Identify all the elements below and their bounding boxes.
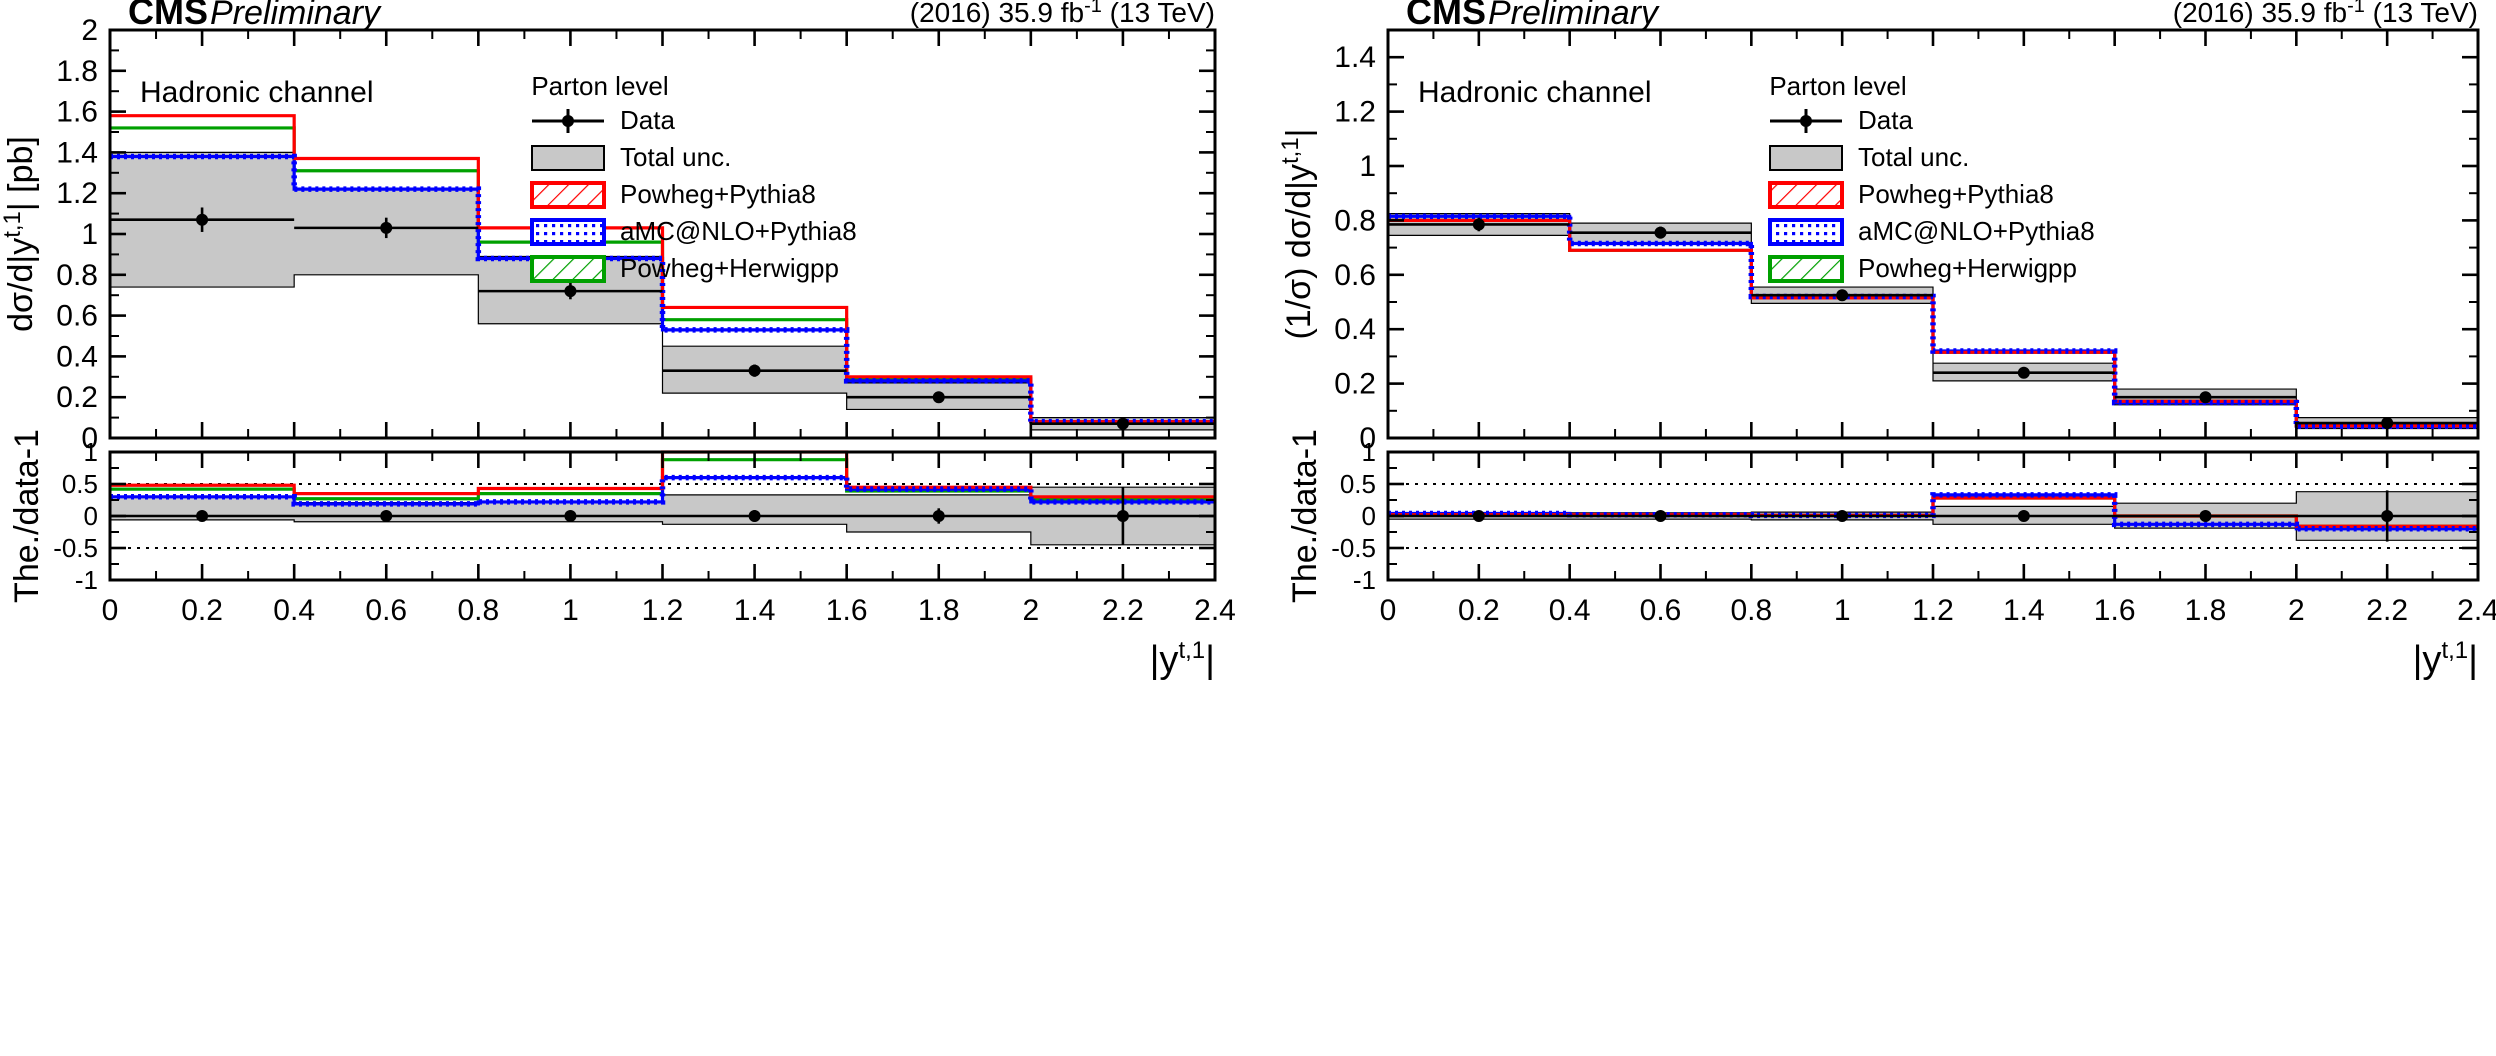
data-marker xyxy=(749,365,761,377)
left-panel-absolute-cross-section: 00.20.40.60.811.21.41.61.82-1-0.500.5100… xyxy=(0,0,1248,1056)
ratio-y-axis-title: The./data-1 xyxy=(1286,429,1324,603)
main-y-tick-label: 0.2 xyxy=(56,381,98,414)
data-marker xyxy=(2200,391,2212,403)
legend-header: Parton level xyxy=(531,71,668,101)
x-tick-label: 1.2 xyxy=(1912,594,1954,627)
main-y-tick-label: 0.8 xyxy=(1334,204,1376,237)
legend-item[interactable]: Total unc. xyxy=(1770,142,1969,172)
cms-label: CMS xyxy=(128,0,208,32)
x-tick-label: 0.6 xyxy=(365,594,407,627)
main-y-tick-label: 1.2 xyxy=(56,177,98,210)
data-marker xyxy=(196,214,208,226)
preliminary-label: Preliminary xyxy=(210,0,382,32)
main-y-axis-title: dσ/d|yt,1| [pb] xyxy=(0,136,40,332)
main-y-tick-label: 0.4 xyxy=(1334,313,1376,346)
x-tick-label: 0.2 xyxy=(181,594,223,627)
x-tick-label: 0.4 xyxy=(273,594,315,627)
ratio-data-marker xyxy=(933,510,945,522)
x-tick-label: 1.6 xyxy=(826,594,868,627)
main-y-tick-label: 0.6 xyxy=(1334,259,1376,292)
x-tick-label: 1.8 xyxy=(2185,594,2227,627)
legend-item[interactable]: Data xyxy=(1770,105,1913,135)
x-tick-label: 1.8 xyxy=(918,594,960,627)
ratio-y-tick-label: 1 xyxy=(1362,437,1376,467)
x-tick-labels: 00.20.40.60.811.21.41.61.822.22.4 xyxy=(1380,594,2496,627)
legend-label: Powheg+Pythia8 xyxy=(1858,179,2054,209)
legend-label: Powheg+Herwigpp xyxy=(620,253,839,283)
legend-item[interactable]: Data xyxy=(532,105,675,135)
ratio-plot-pad xyxy=(1388,484,2478,548)
legend-item[interactable]: Powheg+Pythia8 xyxy=(1770,179,2054,209)
ratio-y-tick-label: 0.5 xyxy=(1340,469,1376,499)
data-marker xyxy=(1836,289,1848,301)
x-tick-label: 0.8 xyxy=(1730,594,1772,627)
legend-label: Data xyxy=(1858,105,1913,135)
x-tick-label: 1.6 xyxy=(2094,594,2136,627)
ratio-data-marker xyxy=(1117,510,1129,522)
x-tick-label: 0 xyxy=(102,594,119,627)
legend-swatch-hatched xyxy=(1770,183,1842,207)
legend-swatch-hatched xyxy=(1770,257,1842,281)
legend-label: Powheg+Herwigpp xyxy=(1858,253,2077,283)
ratio-y-tick-label: -1 xyxy=(75,565,98,595)
ratio-data-marker xyxy=(2200,510,2212,522)
ratio-data-marker xyxy=(196,510,208,522)
legend[interactable]: Parton levelDataTotal unc.Powheg+Pythia8… xyxy=(531,71,856,283)
main-y-tick-label: 1.4 xyxy=(56,136,98,169)
main-y-tick-label: 0.8 xyxy=(56,259,98,292)
legend-swatch-dotted xyxy=(1770,220,1842,244)
data-marker xyxy=(564,285,576,297)
data-marker xyxy=(1655,227,1667,239)
x-tick-label: 2 xyxy=(2288,594,2305,627)
ratio-y-tick-label: 1 xyxy=(84,437,98,467)
main-y-tick-label: 2 xyxy=(81,14,98,47)
data-marker xyxy=(933,391,945,403)
legend-swatch-hatched xyxy=(532,183,604,207)
main-y-tick-label: 1.2 xyxy=(1334,96,1376,129)
legend-item[interactable]: Total unc. xyxy=(532,142,731,172)
ratio-data-marker xyxy=(2381,510,2393,522)
main-y-tick-label: 1.8 xyxy=(56,55,98,88)
ratio-data-marker xyxy=(1473,510,1485,522)
main-y-tick-label: 1 xyxy=(81,218,98,251)
ratio-data-marker xyxy=(2018,510,2030,522)
legend-item[interactable]: Powheg+Herwigpp xyxy=(532,253,839,283)
legend-data-marker xyxy=(562,115,574,127)
main-y-tick-label: 0.2 xyxy=(1334,368,1376,401)
x-tick-label: 1.2 xyxy=(642,594,684,627)
luminosity-label: (2016) 35.9 fb-1 (13 TeV) xyxy=(2173,0,2478,28)
x-tick-label: 1 xyxy=(1834,594,1851,627)
ratio-y-tick-label: 0 xyxy=(1362,501,1376,531)
main-y-tick-label: 0.6 xyxy=(56,300,98,333)
main-y-tick-label: 0.4 xyxy=(56,340,98,373)
data-marker xyxy=(380,222,392,234)
cms-label: CMS xyxy=(1406,0,1486,32)
x-tick-label: 2.2 xyxy=(2366,594,2408,627)
preliminary-label: Preliminary xyxy=(1488,0,1660,32)
ratio-y-tick-label: 0 xyxy=(84,501,98,531)
channel-label: Hadronic channel xyxy=(1418,76,1651,109)
ratio-data-marker xyxy=(564,510,576,522)
legend-item[interactable]: Powheg+Herwigpp xyxy=(1770,253,2077,283)
ratio-y-tick-label: -0.5 xyxy=(1331,533,1376,563)
x-tick-labels: 00.20.40.60.811.21.41.61.822.22.4 xyxy=(102,594,1236,627)
x-tick-label: 2.4 xyxy=(2457,594,2496,627)
ratio-y-tick-label: -1 xyxy=(1353,565,1376,595)
ratio-y-tick-label: 0.5 xyxy=(62,469,98,499)
x-tick-label: 0 xyxy=(1380,594,1397,627)
y-axis-title: dσ/d|yt,1| [pb]The./data-1 xyxy=(0,136,46,603)
main-y-axis-title: (1/σ) dσ/d|yt,1| xyxy=(1277,128,1318,339)
x-tick-label: 0.6 xyxy=(1640,594,1682,627)
ratio-data-marker xyxy=(1655,510,1667,522)
ratio-y-axis-title: The./data-1 xyxy=(8,429,46,603)
x-tick-label: 1 xyxy=(562,594,579,627)
figure-root: 00.20.40.60.811.21.41.61.82-1-0.500.5100… xyxy=(0,0,2496,1056)
x-axis-title: |yt,1| xyxy=(1150,637,1215,681)
legend-header: Parton level xyxy=(1769,71,1906,101)
ratio-y-tick-label: -0.5 xyxy=(53,533,98,563)
ratio-data-marker xyxy=(380,510,392,522)
main-y-tick-label: 1.4 xyxy=(1334,41,1376,74)
legend-label: aMC@NLO+Pythia8 xyxy=(620,216,857,246)
legend-label: Data xyxy=(620,105,675,135)
channel-label: Hadronic channel xyxy=(140,76,373,109)
legend-swatch-hatched xyxy=(532,257,604,281)
x-tick-label: 0.2 xyxy=(1458,594,1500,627)
luminosity-label: (2016) 35.9 fb-1 (13 TeV) xyxy=(910,0,1215,28)
legend-item[interactable]: aMC@NLO+Pythia8 xyxy=(1770,216,2095,246)
legend-item[interactable]: Powheg+Pythia8 xyxy=(532,179,816,209)
x-tick-label: 0.8 xyxy=(457,594,499,627)
x-tick-label: 1.4 xyxy=(734,594,776,627)
x-axis-title: |yt,1| xyxy=(2413,637,2478,681)
right-panel-normalized-cross-section: 00.20.40.60.811.21.4-1-0.500.5100.20.40.… xyxy=(1248,0,2496,1056)
x-tick-label: 2.2 xyxy=(1102,594,1144,627)
x-tick-label: 2.4 xyxy=(1194,594,1236,627)
panel-header: CMSPreliminary(2016) 35.9 fb-1 (13 TeV) xyxy=(1406,0,2478,32)
main-y-tick-label: 1.6 xyxy=(56,96,98,129)
x-tick-label: 2 xyxy=(1022,594,1039,627)
x-tick-label: 1.4 xyxy=(2003,594,2045,627)
data-marker xyxy=(1473,218,1485,230)
legend-swatch-dotted xyxy=(532,220,604,244)
ratio-data-marker xyxy=(749,510,761,522)
main-y-tick-label: 1 xyxy=(1359,150,1376,183)
legend-label: Total unc. xyxy=(1858,142,1969,172)
y-axis-title: (1/σ) dσ/d|yt,1|The./data-1 xyxy=(1277,128,1324,602)
ratio-data-marker xyxy=(1836,510,1848,522)
x-tick-label: 0.4 xyxy=(1549,594,1591,627)
legend-label: Total unc. xyxy=(620,142,731,172)
legend-swatch-total-unc xyxy=(1770,146,1842,170)
legend-item[interactable]: aMC@NLO+Pythia8 xyxy=(532,216,857,246)
legend-swatch-total-unc xyxy=(532,146,604,170)
legend-data-marker xyxy=(1800,115,1812,127)
legend-label: Powheg+Pythia8 xyxy=(620,179,816,209)
legend[interactable]: Parton levelDataTotal unc.Powheg+Pythia8… xyxy=(1769,71,2094,283)
panel-header: CMSPreliminary(2016) 35.9 fb-1 (13 TeV) xyxy=(128,0,1215,32)
data-marker xyxy=(2018,367,2030,379)
legend-label: aMC@NLO+Pythia8 xyxy=(1858,216,2095,246)
